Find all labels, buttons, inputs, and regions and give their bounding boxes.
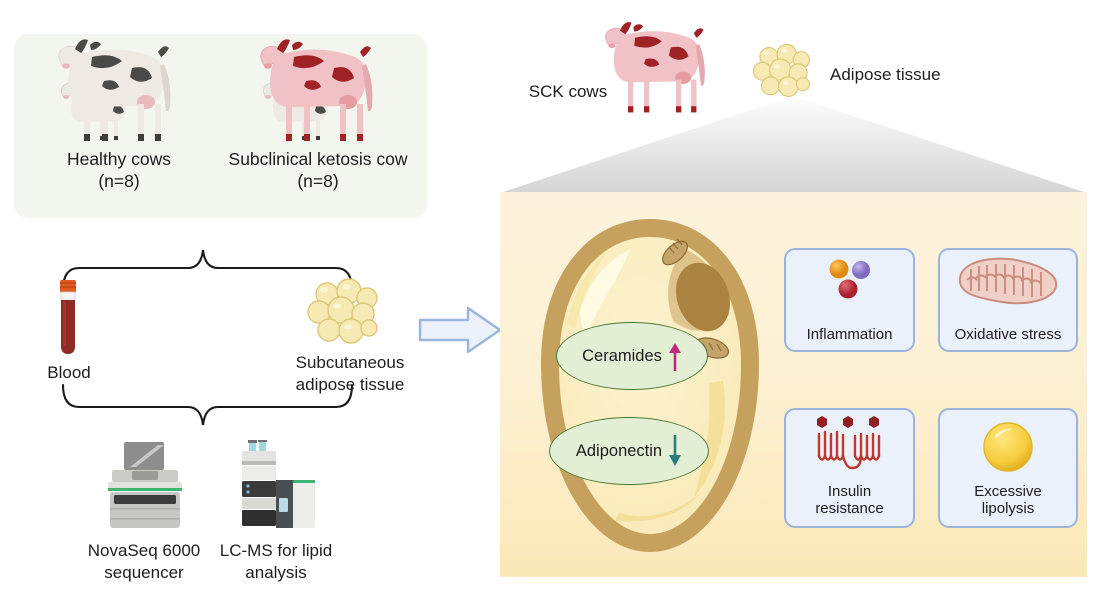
down-arrow-icon	[668, 435, 682, 467]
adiponectin-marker: Adiponectin	[549, 417, 709, 485]
insulin-receptor-icon	[786, 416, 913, 476]
cytokine-spheres-icon	[786, 256, 913, 304]
subcutaneous-adipose-icon	[305, 278, 385, 348]
lcms-label-line2: analysis	[206, 562, 346, 584]
outcome-box-oxidative-stress[interactable]: Oxidative stress	[938, 248, 1078, 352]
adipose-label-line2: adipose tissue	[288, 374, 412, 396]
flow-right-arrow-icon	[416, 303, 504, 357]
subcutaneous-adipose-label: Subcutaneous adipose tissue	[288, 352, 412, 396]
sequencer-label: NovaSeq 6000 sequencer	[72, 540, 216, 584]
healthy-cow-icon	[30, 36, 210, 146]
lipolysis-label-line2: lipolysis	[974, 500, 1042, 517]
adipose-label-line1: Subcutaneous	[288, 352, 412, 374]
lipolysis-label-line1: Excessive	[974, 483, 1042, 500]
sequencer-label-line1: NovaSeq 6000	[72, 540, 216, 562]
outcome-box-insulin-resistance[interactable]: Insulin resistance	[784, 408, 915, 528]
outcome-label-oxidative-stress: Oxidative stress	[955, 326, 1062, 343]
up-arrow-icon	[668, 341, 682, 371]
adiponectin-label: Adiponectin	[576, 442, 662, 461]
healthy-cows-n: (n=8)	[24, 170, 214, 192]
outcome-box-inflammation[interactable]: Inflammation	[784, 248, 915, 352]
lipid-droplet-icon	[940, 420, 1076, 474]
ketotic-cows-label: Subclinical ketosis cow (n=8)	[210, 148, 426, 193]
mitochondrion-icon	[940, 256, 1076, 308]
sck-cows-label: SCK cows	[518, 81, 618, 103]
outcome-box-excessive-lipolysis[interactable]: Excessive lipolysis	[938, 408, 1078, 528]
healthy-cows-label: Healthy cows (n=8)	[24, 148, 214, 193]
blood-tube-icon	[52, 278, 84, 356]
lcms-label-line1: LC-MS for lipid	[206, 540, 346, 562]
novaseq-sequencer-icon	[98, 440, 190, 530]
blood-label: Blood	[24, 362, 114, 384]
sck-cow-icon	[580, 18, 740, 118]
outcome-label-insulin-resistance: Insulin resistance	[815, 483, 883, 520]
outcome-label-inflammation: Inflammation	[807, 326, 893, 343]
healthy-cows-text: Healthy cows	[24, 148, 214, 170]
ceramides-label: Ceramides	[582, 347, 662, 366]
insulin-label-line1: Insulin	[815, 483, 883, 500]
insulin-label-line2: resistance	[815, 500, 883, 517]
ketotic-cows-text: Subclinical ketosis cow	[210, 148, 426, 170]
ketotic-cows-n: (n=8)	[210, 170, 426, 192]
lc-ms-icon	[228, 440, 320, 530]
ceramides-marker: Ceramides	[556, 322, 708, 390]
ketotic-cow-icon	[232, 36, 412, 146]
adipose-tissue-label: Adipose tissue	[830, 64, 1000, 86]
lcms-label: LC-MS for lipid analysis	[206, 540, 346, 584]
outcome-label-excessive-lipolysis: Excessive lipolysis	[974, 483, 1042, 520]
stage-adipose-cluster-icon	[751, 42, 816, 102]
sequencer-label-line2: sequencer	[72, 562, 216, 584]
